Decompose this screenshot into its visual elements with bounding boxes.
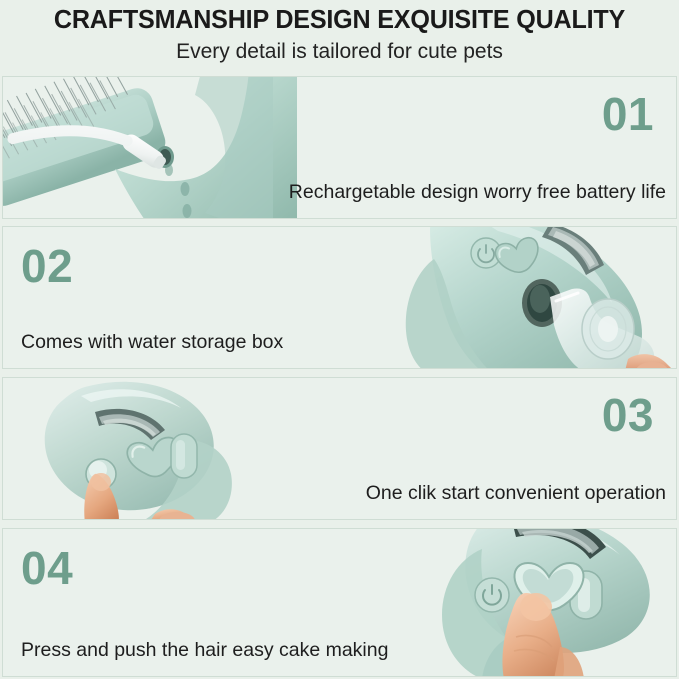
feature-panel-02: 02 Comes with water storage box (2, 226, 677, 369)
feature-panel-01: 01 Rechargetable design worry free batte… (2, 76, 677, 219)
feature-caption: Comes with water storage box (21, 331, 283, 354)
feature-panel-04: 04 Press and push the hair easy cake mak… (2, 528, 677, 677)
product-image-water-box (390, 226, 677, 369)
product-image-brush-usb (2, 76, 297, 219)
header: CRAFTSMANSHIP DESIGN EXQUISITE QUALITY E… (0, 0, 679, 74)
step-number: 03 (602, 392, 654, 438)
feature-panel-03: 03 One clik start convenient operation (2, 377, 677, 520)
feature-caption: Rechargetable design worry free battery … (289, 181, 666, 204)
feature-caption: One clik start convenient operation (366, 482, 666, 505)
page-title: CRAFTSMANSHIP DESIGN EXQUISITE QUALITY (5, 6, 674, 35)
page-subtitle: Every detail is tailored for cute pets (0, 40, 679, 64)
product-image-press-push (386, 528, 676, 677)
step-number: 04 (21, 545, 73, 591)
feature-caption: Press and push the hair easy cake making (21, 639, 388, 662)
infographic-page: CRAFTSMANSHIP DESIGN EXQUISITE QUALITY E… (0, 0, 679, 679)
product-image-one-click (19, 378, 319, 520)
step-number: 02 (21, 243, 73, 289)
step-number: 01 (602, 91, 654, 137)
